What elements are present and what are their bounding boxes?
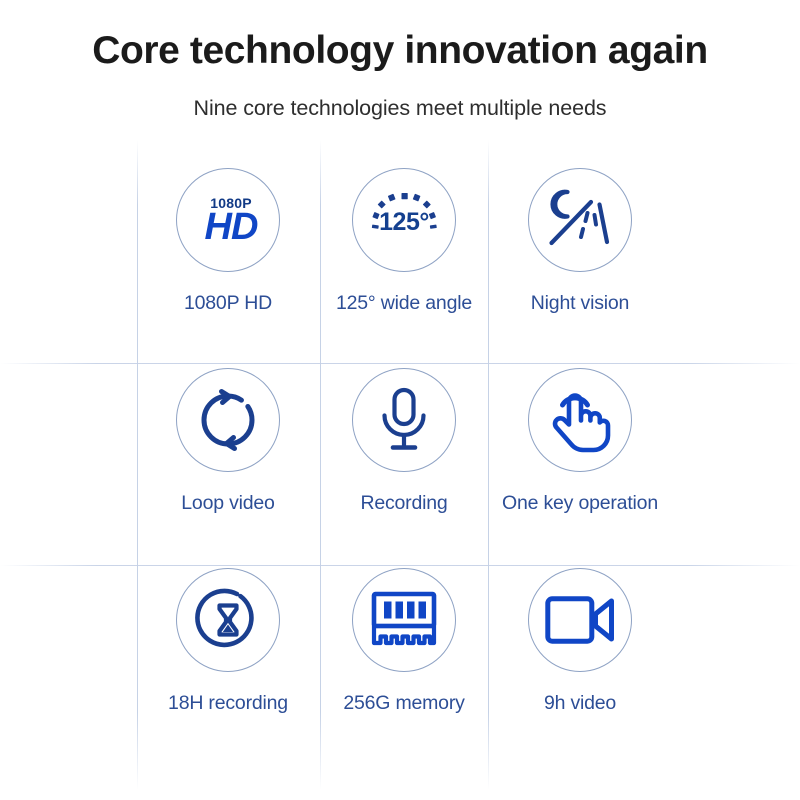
feature-label: 9h video — [544, 692, 616, 715]
feature-recording[interactable]: Recording — [316, 368, 492, 568]
feature-night-vision[interactable]: Night vision — [492, 168, 668, 368]
feature-label: 125° wide angle — [336, 292, 472, 315]
feature-label: 1080P HD — [184, 292, 272, 315]
feature-icon-circle — [352, 568, 456, 672]
feature-9h-video[interactable]: 9h video — [492, 568, 668, 768]
video-camera-icon — [545, 596, 615, 644]
feature-label: Night vision — [531, 292, 629, 315]
grid-vertical-line-1 — [137, 140, 138, 790]
feature-icon-circle — [528, 168, 632, 272]
hd-badge-hd-text: HD — [205, 208, 258, 246]
hourglass-circle-icon — [196, 588, 260, 652]
feature-label: Loop video — [181, 492, 274, 515]
header-block: Core technology innovation again Nine co… — [0, 0, 800, 121]
feature-label: 256G memory — [343, 692, 464, 715]
page-subtitle: Nine core technologies meet multiple nee… — [0, 73, 800, 121]
feature-loop-video[interactable]: Loop video — [140, 368, 316, 568]
memory-ram-icon — [371, 591, 437, 649]
feature-256g-memory[interactable]: 256G memory — [316, 568, 492, 768]
night-vision-moon-road-icon — [547, 188, 613, 252]
promo-page: Core technology innovation again Nine co… — [0, 0, 800, 800]
feature-icon-circle — [176, 568, 280, 672]
feature-icon-circle: 125° — [352, 168, 456, 272]
feature-1080p-hd[interactable]: 1080P HD 1080P HD — [140, 168, 316, 368]
feature-label: One key operation — [502, 492, 658, 515]
feature-label: 18H recording — [168, 692, 288, 715]
feature-grid: 1080P HD 1080P HD — [140, 168, 668, 768]
feature-icon-circle: 1080P HD — [176, 168, 280, 272]
wide-angle-icon: 125° — [353, 168, 455, 272]
wide-angle-value-text: 125° — [379, 208, 429, 237]
feature-icon-circle — [528, 368, 632, 472]
feature-one-key-operation[interactable]: One key operation — [492, 368, 668, 568]
feature-label: Recording — [360, 492, 447, 515]
feature-icon-circle — [528, 568, 632, 672]
microphone-icon — [378, 387, 430, 453]
feature-icon-circle — [176, 368, 280, 472]
tap-hand-icon — [549, 387, 611, 453]
feature-icon-circle — [352, 368, 456, 472]
feature-18h-recording[interactable]: 18H recording — [140, 568, 316, 768]
page-title: Core technology innovation again — [0, 0, 800, 73]
hd-badge-icon: 1080P HD — [205, 196, 258, 246]
feature-wide-angle[interactable]: 125° 125° wide angle — [316, 168, 492, 368]
loop-arrows-icon — [197, 389, 259, 451]
